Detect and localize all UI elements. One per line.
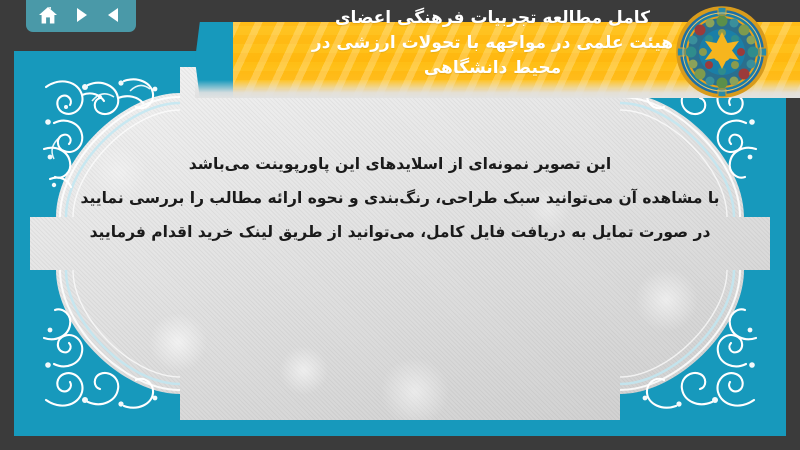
forward-button[interactable] xyxy=(68,3,94,27)
presentation-slide: این تصویر نمونه‌ای از اسلایدهای این پاور… xyxy=(14,51,786,436)
body-line: این تصویر نمونه‌ای از اسلایدهای این پاور… xyxy=(70,147,730,181)
slide-viewer: کامل مطالعه تجربیات فرهنگی اعضای هیئت عل… xyxy=(0,0,800,450)
navigation-bar xyxy=(26,0,136,32)
body-line: با مشاهده آن می‌توانید سبک طراحی، رنگ‌بن… xyxy=(70,181,730,215)
islamic-mandala-ornament-icon xyxy=(676,6,768,98)
home-button[interactable] xyxy=(35,3,61,27)
slide-content-area: این تصویر نمونه‌ای از اسلایدهای این پاور… xyxy=(30,67,770,420)
floral-corner-ornament-icon xyxy=(620,270,770,420)
slide-body-text: این تصویر نمونه‌ای از اسلایدهای این پاور… xyxy=(70,147,730,249)
body-line: در صورت تمایل به دریافت فایل کامل، می‌تو… xyxy=(70,215,730,249)
home-icon xyxy=(38,6,58,25)
floral-corner-ornament-icon xyxy=(30,270,180,420)
back-button[interactable] xyxy=(101,3,127,27)
forward-triangle-icon xyxy=(72,6,90,24)
back-triangle-icon xyxy=(105,6,123,24)
